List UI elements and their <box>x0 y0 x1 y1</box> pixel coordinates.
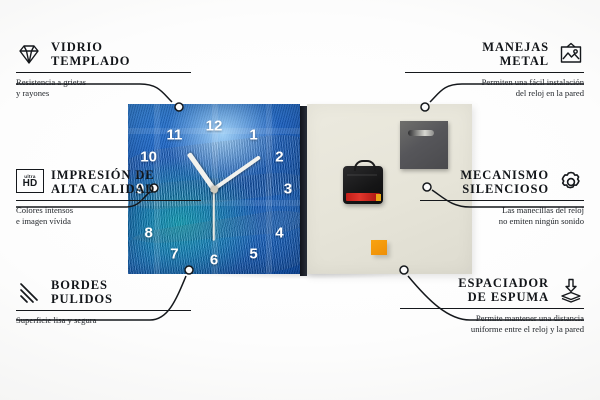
arrow-down-layers-icon <box>558 277 584 303</box>
callout-title: BORDES <box>51 278 113 292</box>
callout-subtitle: Resistencia a grietas <box>16 77 191 88</box>
clock-numeral: 10 <box>140 150 157 165</box>
clock-numeral: 3 <box>284 182 292 197</box>
callout-divider <box>16 310 191 311</box>
callout-divider <box>400 308 584 309</box>
callout-subtitle: del reloj en la pared <box>405 88 584 99</box>
clock-side-edge <box>300 106 307 276</box>
callout-title: ESPACIADOR <box>458 276 549 290</box>
callout-divider <box>16 72 191 73</box>
clock-pivot <box>211 186 218 193</box>
callout-subtitle: Permite mantener una distancia <box>400 313 584 324</box>
infographic-canvas: 12 1 2 3 4 5 6 7 8 9 10 11 <box>0 0 600 400</box>
callout-subtitle: uniforme entre el reloj y la pared <box>400 324 584 335</box>
gear-icon <box>558 169 584 195</box>
diamond-icon <box>16 41 42 67</box>
callout-title: VIDRIO <box>51 40 130 54</box>
callout-divider <box>420 200 584 201</box>
ultra-hd-icon: ultra HD <box>16 169 42 195</box>
callout-impresion-alta-calidad[interactable]: ultra HD IMPRESIÓN DE ALTA CALIDAD Color… <box>16 168 201 227</box>
diagonal-lines-icon <box>16 279 42 305</box>
callout-title: PULIDOS <box>51 292 113 306</box>
picture-frame-hanging-icon <box>558 41 584 67</box>
clock-numeral: 7 <box>170 246 178 261</box>
callout-bordes-pulidos[interactable]: BORDES PULIDOS Superficie lisa y segura <box>16 278 191 326</box>
callout-title: METAL <box>482 54 549 68</box>
clock-numeral: 5 <box>249 246 257 261</box>
clock-numeral: 12 <box>206 119 223 134</box>
callout-subtitle: no emiten ningún sonido <box>420 216 584 227</box>
clock-numeral: 1 <box>249 128 257 143</box>
callout-divider <box>16 200 201 201</box>
callout-subtitle: Permiten una fácil instalación <box>405 77 584 88</box>
callout-title: ALTA CALIDAD <box>51 182 155 196</box>
clock-numeral: 11 <box>167 128 183 143</box>
callout-subtitle: e imagen vívida <box>16 216 201 227</box>
clock-mechanism <box>343 166 383 204</box>
clock-numeral: 6 <box>210 253 218 268</box>
ultra-hd-main-label: HD <box>23 179 38 189</box>
metal-hanger-plate <box>400 121 448 169</box>
callout-subtitle: y rayones <box>16 88 191 99</box>
hanger-slot <box>408 130 434 136</box>
callout-subtitle: Superficie lisa y segura <box>16 315 191 326</box>
clock-numeral: 2 <box>275 150 283 165</box>
battery <box>346 193 380 201</box>
callout-vidrio-templado[interactable]: VIDRIO TEMPLADO Resistencia a grietas y … <box>16 40 191 99</box>
callout-title: TEMPLADO <box>51 54 130 68</box>
callout-title: MANEJAS <box>482 40 549 54</box>
callout-manejas-metal[interactable]: MANEJAS METAL Permiten una fácil instala… <box>405 40 584 99</box>
callout-subtitle: Las manecillas del reloj <box>420 205 584 216</box>
foam-spacer <box>371 240 387 255</box>
clock-numeral: 8 <box>144 226 152 241</box>
callout-title: DE ESPUMA <box>458 290 549 304</box>
callout-title: MECANISMO <box>460 168 549 182</box>
callout-divider <box>405 72 584 73</box>
clock-numeral: 4 <box>275 226 283 241</box>
mechanism-hanger-loop <box>354 160 376 171</box>
callout-subtitle: Colores intensos <box>16 205 201 216</box>
callout-espaciador-espuma[interactable]: ESPACIADOR DE ESPUMA Permite mantener un… <box>400 276 584 335</box>
callout-title: IMPRESIÓN DE <box>51 168 155 182</box>
callout-mecanismo-silencioso[interactable]: MECANISMO SILENCIOSO Las manecillas del … <box>420 168 584 227</box>
battery-terminal <box>376 194 381 201</box>
callout-title: SILENCIOSO <box>460 182 549 196</box>
